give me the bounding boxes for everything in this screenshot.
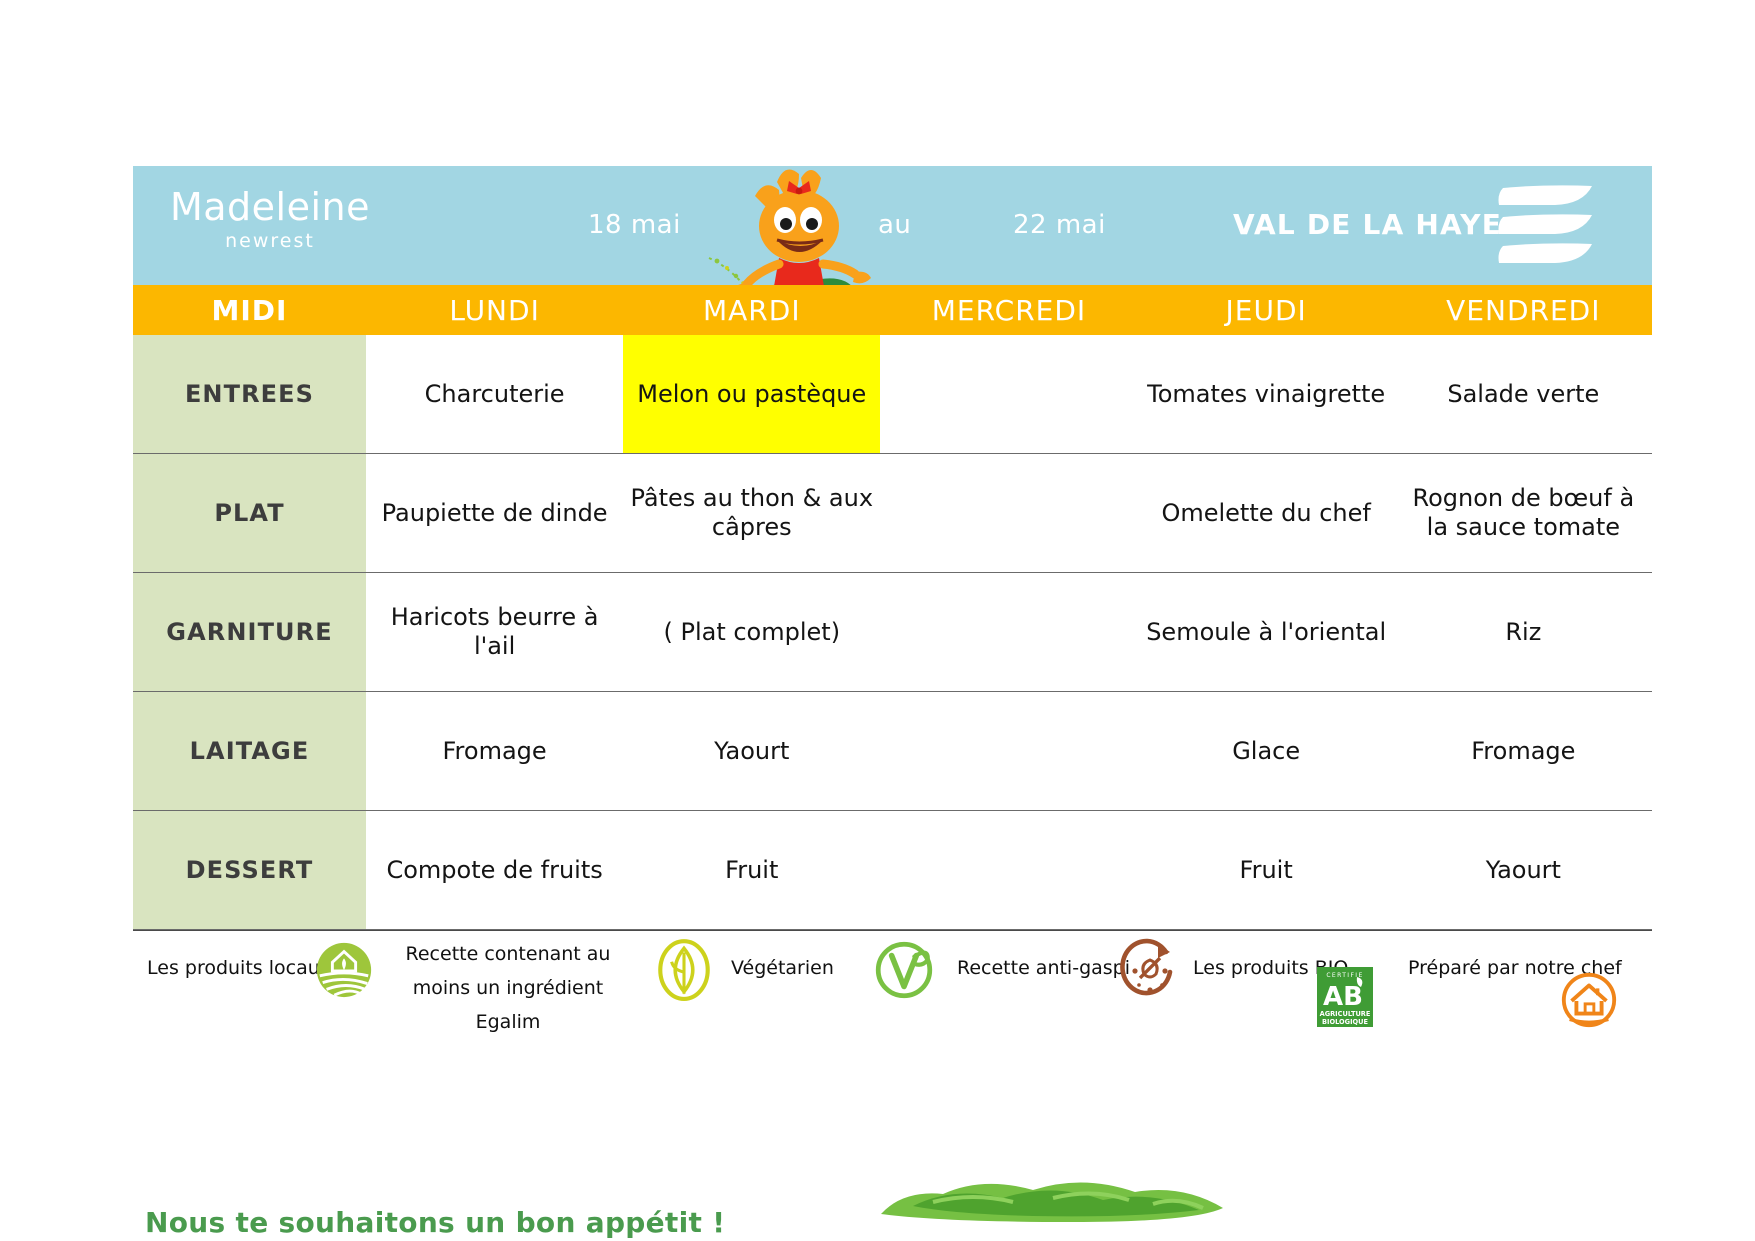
madeleine-logo: Madeleine newrest — [155, 186, 385, 252]
row-label-garniture: GARNITURE — [133, 573, 366, 691]
table-row: LAITAGE Fromage Yaourt Glace Fromage — [133, 692, 1652, 811]
cell-laitage-lundi: Fromage — [366, 692, 623, 810]
cell-entrees-mardi: Melon ou pastèque — [623, 335, 880, 453]
cell-dessert-mardi: Fruit — [623, 811, 880, 929]
days-header-bar: MIDI LUNDI MARDI MERCREDI JEUDI VENDREDI — [133, 285, 1652, 335]
cell-garniture-mardi: ( Plat complet) — [623, 573, 880, 691]
ab-bio-logo-icon: CERTIFIE AB AGRICULTURE BIOLOGIQUE — [1315, 965, 1375, 1029]
site-name: VAL DE LA HAYE — [1233, 208, 1502, 241]
cell-laitage-jeudi: Glace — [1138, 692, 1395, 810]
svg-text:BIOLOGIQUE: BIOLOGIQUE — [1322, 1018, 1368, 1026]
cell-laitage-mercredi — [880, 692, 1137, 810]
cell-entrees-vendredi: Salade verte — [1395, 335, 1652, 453]
chef-house-icon — [1558, 969, 1620, 1031]
table-row: DESSERT Compote de fruits Fruit Fruit Ya… — [133, 811, 1652, 930]
column-header-lundi: LUNDI — [366, 285, 623, 335]
cell-garniture-mercredi — [880, 573, 1137, 691]
header-band: Madeleine newrest 18 mai au 22 mai VAL D… — [133, 166, 1652, 285]
bon-appetit-message: Nous te souhaitons un bon appétit ! — [145, 1206, 725, 1239]
table-row: GARNITURE Haricots beurre à l'ail ( Plat… — [133, 573, 1652, 692]
cell-plat-jeudi: Omelette du chef — [1138, 454, 1395, 572]
column-header-mardi: MARDI — [623, 285, 880, 335]
cell-garniture-jeudi: Semoule à l'oriental — [1138, 573, 1395, 691]
brand-name: Madeleine — [155, 186, 385, 228]
row-label-laitage: LAITAGE — [133, 692, 366, 810]
cell-laitage-vendredi: Fromage — [1395, 692, 1652, 810]
salad-decoration-icon — [873, 1156, 1243, 1226]
cell-dessert-vendredi: Yaourt — [1395, 811, 1652, 929]
cell-dessert-mercredi — [880, 811, 1137, 929]
row-label-plat: PLAT — [133, 454, 366, 572]
cell-plat-mardi: Pâtes au thon & aux câpres — [623, 454, 880, 572]
svg-text:AB: AB — [1323, 982, 1363, 1012]
cell-dessert-jeudi: Fruit — [1138, 811, 1395, 929]
cell-entrees-mercredi — [880, 335, 1137, 453]
legend-label-antigaspi: Recette anti-gaspi — [957, 956, 1130, 981]
cell-laitage-mardi: Yaourt — [623, 692, 880, 810]
column-header-jeudi: JEUDI — [1138, 285, 1395, 335]
elior-logo-icon — [1495, 184, 1600, 272]
cell-plat-lundi: Paupiette de dinde — [366, 454, 623, 572]
legend-label-local: Les produits locaux — [147, 956, 331, 981]
legend-label-vegetarien: Végétarien — [731, 956, 834, 981]
date-separator: au — [878, 210, 911, 240]
date-start: 18 mai — [588, 210, 681, 240]
column-header-vendredi: VENDREDI — [1395, 285, 1652, 335]
cell-entrees-jeudi: Tomates vinaigrette — [1138, 335, 1395, 453]
row-label-entrees: ENTREES — [133, 335, 366, 453]
legend-bar: Les produits locaux Recette contenant au… — [133, 930, 1652, 1043]
anti-gaspi-icon — [1118, 936, 1182, 1004]
cell-entrees-lundi: Charcuterie — [366, 335, 623, 453]
vegetarian-v-icon — [871, 937, 937, 1003]
cell-garniture-vendredi: Riz — [1395, 573, 1652, 691]
table-row: PLAT Paupiette de dinde Pâtes au thon & … — [133, 454, 1652, 573]
column-header-meal: MIDI — [133, 285, 366, 335]
cell-dessert-lundi: Compote de fruits — [366, 811, 623, 929]
table-row: ENTREES Charcuterie Melon ou pastèque To… — [133, 335, 1652, 454]
local-farm-icon — [313, 939, 375, 1001]
svg-text:AGRICULTURE: AGRICULTURE — [1320, 1010, 1371, 1018]
menu-sheet: Madeleine newrest 18 mai au 22 mai VAL D… — [133, 166, 1652, 1043]
column-header-mercredi: MERCREDI — [880, 285, 1137, 335]
legend-label-egalim: Recette contenant au moins un ingrédient… — [383, 937, 633, 1039]
row-label-dessert: DESSERT — [133, 811, 366, 929]
brand-sub: newrest — [155, 230, 385, 252]
cell-plat-vendredi: Rognon de bœuf à la sauce tomate — [1395, 454, 1652, 572]
cell-garniture-lundi: Haricots beurre à l'ail — [366, 573, 623, 691]
cell-plat-mercredi — [880, 454, 1137, 572]
egalim-leaf-icon — [651, 935, 717, 1005]
date-end: 22 mai — [1013, 210, 1106, 240]
